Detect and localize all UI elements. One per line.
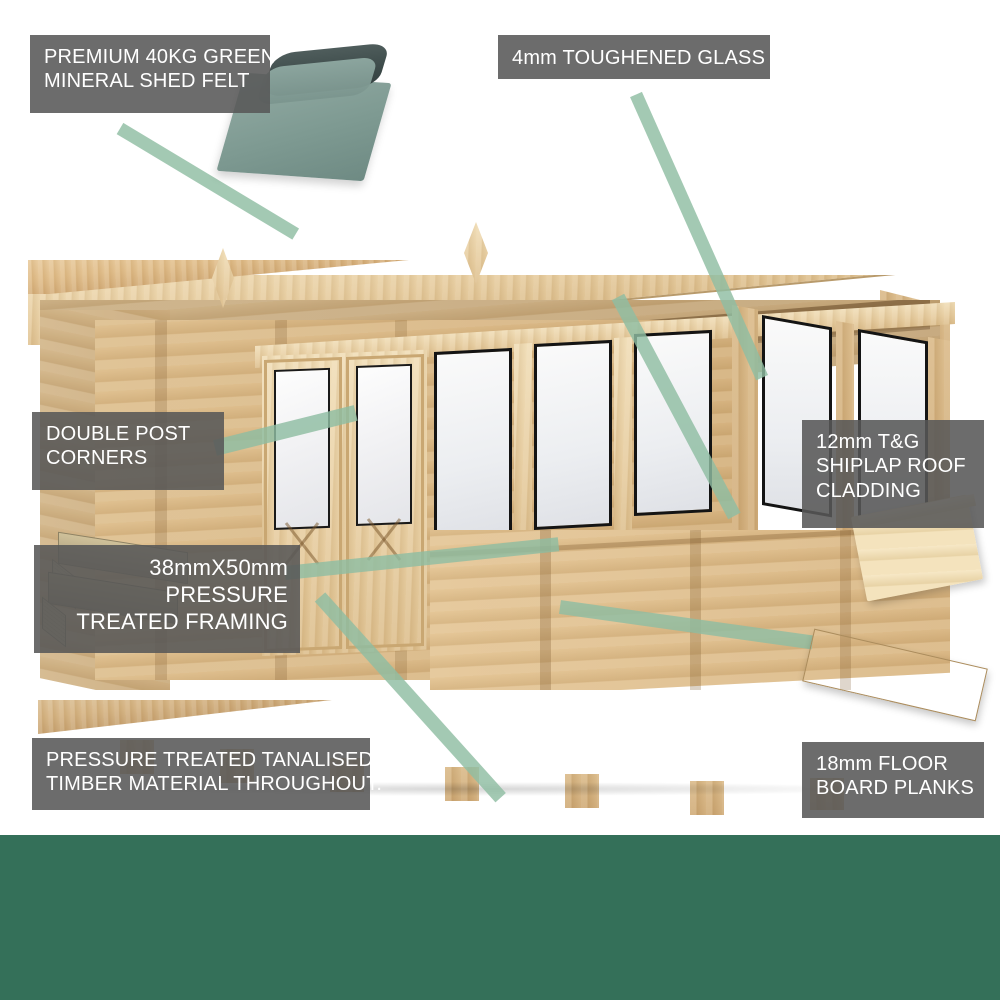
feature-diagram: PREMIUM 40KG GREEN MINERAL SHED FELT 4mm… [0,0,1000,1000]
callout-line: 12mm T&G [816,430,970,454]
toughened-glass-callout[interactable]: 4mm TOUGHENED GLASS [498,35,770,79]
callout-line: CLADDING [816,479,970,503]
shiplap-roof-cladding-callout[interactable]: 12mm T&G SHIPLAP ROOF CLADDING [802,420,984,528]
title-banner: Summer House Internal Internal Features … [0,835,1000,1000]
callout-line: PREMIUM 40KG GREEN [44,45,256,69]
callout-line: TIMBER MATERIAL THROUGHOUT. [46,772,356,796]
callout-line: MINERAL SHED FELT [44,69,256,93]
premium-felt-callout[interactable]: PREMIUM 40KG GREEN MINERAL SHED FELT [30,35,270,113]
callout-line: TREATED FRAMING [48,609,288,636]
callout-line: CORNERS [46,446,210,470]
callout-line: BOARD PLANKS [816,776,970,800]
floor-board-planks-callout[interactable]: 18mm FLOOR BOARD PLANKS [802,742,984,818]
callout-line: DOUBLE POST [46,422,210,446]
callout-line: 4mm TOUGHENED GLASS [512,46,756,70]
framing-callout[interactable]: 38mmX50mm PRESSURE TREATED FRAMING [34,545,300,653]
pressure-treated-timber-callout[interactable]: PRESSURE TREATED TANALISED TIMBER MATERI… [32,738,370,810]
double-post-corners-callout[interactable]: DOUBLE POST CORNERS [32,412,224,490]
callout-line: 38mmX50mm [48,555,288,582]
callout-line: PRESSURE [48,582,288,609]
callout-line: PRESSURE TREATED TANALISED [46,748,356,772]
callout-line: SHIPLAP ROOF [816,454,970,478]
floor-plank-image [800,630,990,740]
callout-line: 18mm FLOOR [816,752,970,776]
